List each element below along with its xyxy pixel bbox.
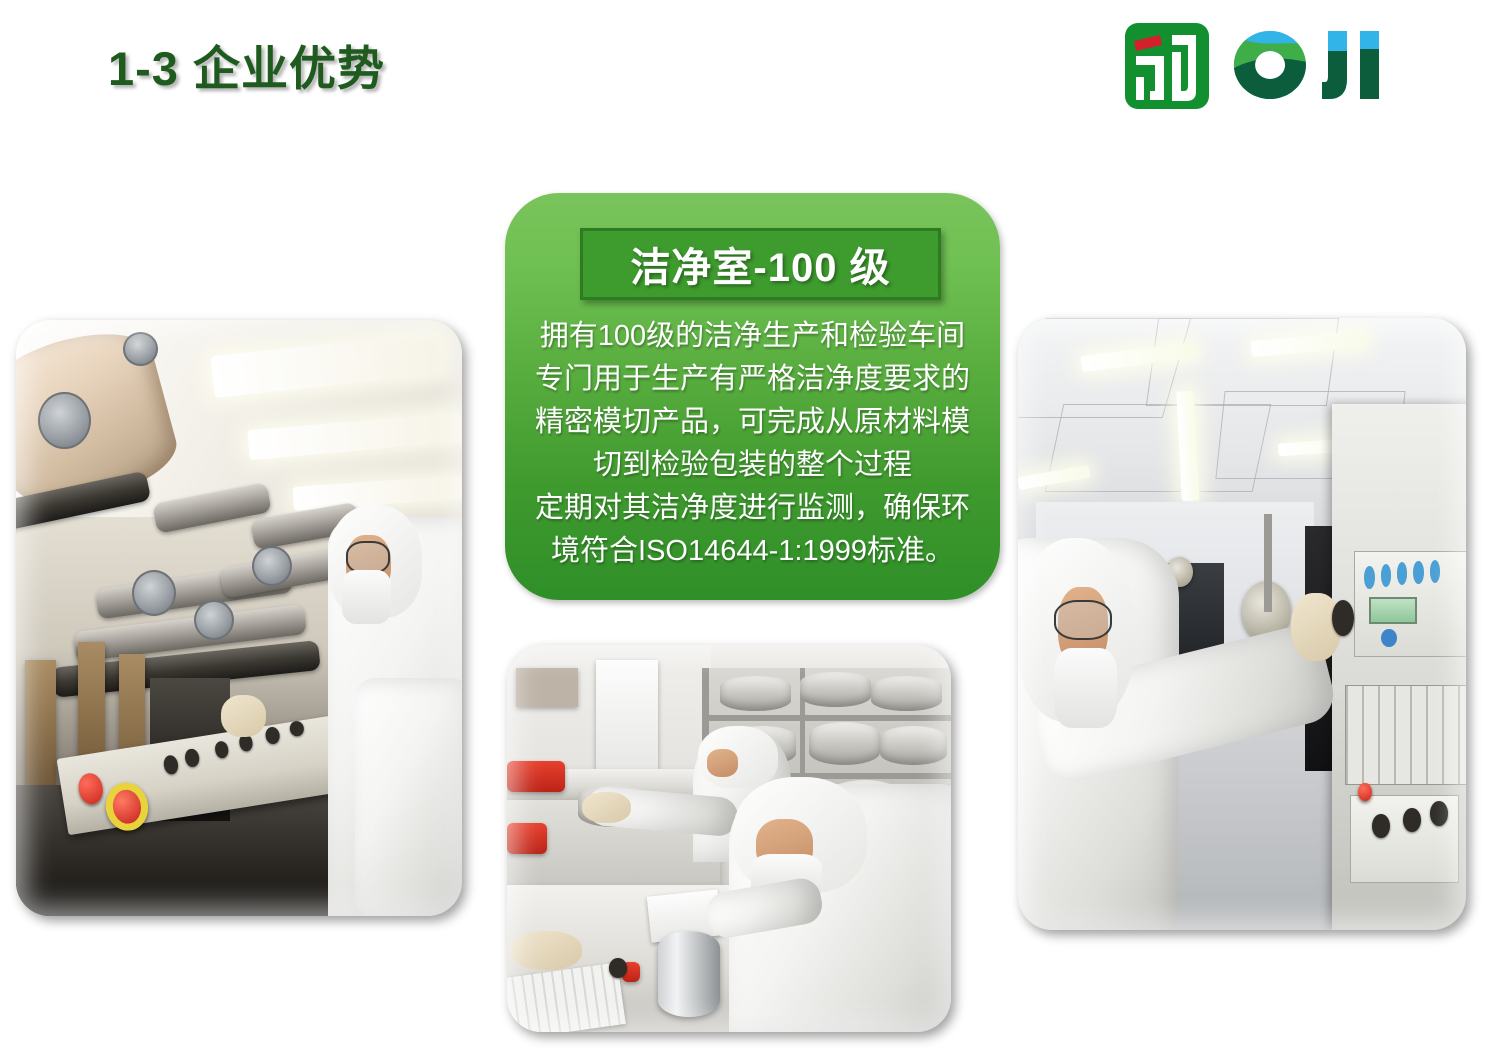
page-title: 1-3 企业优势 [108,30,385,99]
clean-room-heading-box: 洁净室-100 级 [580,228,941,300]
brand-logo [1124,22,1390,110]
description-line: 精密模切产品，可完成从原材料模 [519,401,986,444]
cleanroom-slitting-machine-photo [16,320,462,916]
description-line: 境符合ISO14644-1:1999标准。 [519,530,986,573]
clean-room-description: 拥有100级的洁净生产和检验车间 专门用于生产有严格洁净度要求的 精密模切产品，… [519,315,986,573]
photo-scene [16,320,462,916]
photo-scene [1018,318,1466,930]
green-square-brand-mark-icon [1124,22,1210,110]
oji-wordmark-icon [1232,29,1390,103]
photo-scene [507,645,951,1032]
description-line: 拥有100级的洁净生产和检验车间 [519,315,986,358]
description-line: 专门用于生产有严格洁净度要求的 [519,358,986,401]
clean-room-info-panel: 洁净室-100 级 拥有100级的洁净生产和检验车间 专门用于生产有严格洁净度要… [505,193,1000,600]
description-line: 定期对其洁净度进行监测，确保环 [519,487,986,530]
cleanroom-inspection-packing-photo [507,645,951,1032]
description-line: 切到检验包装的整个过程 [519,444,986,487]
cleanroom-console-operator-photo [1018,318,1466,930]
clean-room-heading-text: 洁净室-100 级 [630,235,890,293]
